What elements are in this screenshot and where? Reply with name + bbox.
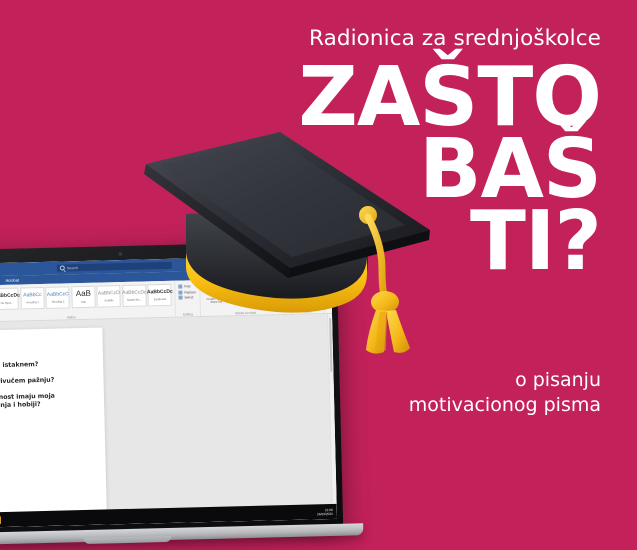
style-emphasis[interactable]: AaBbCcDc Emphasis [148,284,173,307]
document-paragraph-1: Kako da se istaknem? [0,360,94,372]
cap-tassel-shadow [376,312,388,352]
search-icon [60,265,65,270]
style-name-subtle-emphasis: Subtle Em... [127,297,142,301]
kicker-text: Radionica za srednjoškolce [309,26,601,51]
comments-button[interactable]: Comments [298,278,314,282]
laptop-mockup: Document1 - Word Search – □ ✕ M [0,241,344,550]
create-pdf-share-link-label: Create PDF and Share link [203,297,229,304]
dictate-button[interactable]: Dictate [294,281,320,299]
document-body[interactable]: Kako da se istaknem? Kako da privučem pa… [0,354,95,419]
laptop-hinge-notch [83,536,171,544]
sensitivity-buttons[interactable] [327,278,337,294]
acrobat-buttons[interactable]: Create PDF and Share link Create PDF and… [203,280,288,304]
ribbon-group-label-styles: Styles [67,315,76,319]
style-sample-subtitle: AaBbCcD [98,291,120,297]
share-pdf-icon [238,283,251,296]
word-search-placeholder: Search [67,266,78,270]
style-no-spacing[interactable]: AaBbCcDc No Spac... [0,288,19,311]
style-sample-heading-2: AaBbCcC [47,292,69,298]
find-label: Find [184,284,190,288]
create-pdf-share-outlook-label: Create PDF and Share via Outlook [232,297,258,304]
style-sample-subtle-emphasis: AaBbCcDc [122,290,147,296]
style-subtle-emphasis[interactable]: AaBbCcDc Subtle Em... [122,284,147,307]
ribbon-right-actions[interactable]: Comments Share [298,278,328,283]
find-icon [179,285,183,289]
style-sample-heading-1: AaBbCc [23,292,41,297]
style-sample-emphasis: AaBbCcDc [147,289,173,295]
poster-canvas: Document1 - Word Search – □ ✕ M [0,0,637,550]
document-area[interactable]: Kako da se istaknem? Kako da privučem pa… [0,314,337,529]
style-subtitle[interactable]: AaBbCcD Subtitle [97,285,122,308]
folder-icon[interactable] [0,516,1,524]
document-paragraph-2: Kako da privučem pažnju? [0,376,95,388]
ribbon-group-label-acrobat: Adobe Acrobat [235,310,256,315]
clock-date: 24/03/2022 [317,511,333,515]
laptop-lid: Document1 - Word Search – □ ✕ M [0,241,343,536]
ribbon-group-label-voice: Voice [304,309,312,313]
share-button[interactable]: Share [320,278,329,282]
replace-button[interactable]: Replace [179,290,196,294]
ribbon-group-label-editing: Editing [183,312,193,316]
taskbar-clock[interactable]: 21:08 24/03/2022 [317,507,333,515]
webcam-icon [117,251,123,257]
scrollbar-thumb[interactable] [329,318,333,372]
ribbon-group-voice: Dictate Voice [291,277,325,314]
style-name-no-spacing: No Spac... [0,300,13,304]
laptop-screen: Document1 - Word Search – □ ✕ M [0,255,337,529]
ribbon-group-styles: AaBbCcDc Normal AaBbCcDc No Spac... AaBb… [0,281,176,322]
style-name-heading-2: Heading 2 [52,299,65,303]
replace-icon [179,290,183,294]
signature-icon [267,282,280,295]
select-button[interactable]: Select [179,295,196,299]
sensitivity-icon [333,281,337,294]
word-window: Document1 - Word Search – □ ✕ M [0,255,337,529]
vertical-scrollbar[interactable] [327,314,337,511]
style-name-heading-1: Heading 1 [26,300,39,304]
request-signatures-label: Request Signatures [262,296,286,300]
subtitle-line-1: o pisanju [409,368,601,393]
subtitle-line-2: motivacionog pisma [409,393,601,418]
word-search-input[interactable]: Search [57,262,172,272]
find-button[interactable]: Find [179,284,196,288]
styles-gallery[interactable]: AaBbCcDc Normal AaBbCcDc No Spac... AaBb… [0,283,172,311]
document-paragraph-3: Koliku važnost imaju moja interesovanja … [0,392,95,412]
headline: ZAŠTO BAŠ TI? [181,62,601,278]
select-icon [179,296,183,300]
ribbon-group-editing: Find Replace Select [176,280,201,317]
create-pdf-share-outlook-button[interactable]: Create PDF and Share via Outlook [232,283,258,304]
style-name-title: Title [81,300,86,304]
create-pdf-icon [209,284,222,297]
create-pdf-share-link-button[interactable]: Create PDF and Share link [203,283,229,304]
select-label: Select [184,295,193,299]
subtitle: o pisanju motivacionog pisma [409,368,601,417]
style-name-subtitle: Subtitle [104,298,113,302]
ribbon-group-acrobat: Create PDF and Share link Create PDF and… [200,278,292,316]
tab-acrobat[interactable]: Acrobat [5,278,19,283]
replace-label: Replace [184,290,196,294]
style-heading-1[interactable]: AaBbCc Heading 1 [20,287,45,310]
document-page[interactable]: Kako da se istaknem? Kako da privučem pa… [0,328,107,530]
cap-tassel-strand-1 [366,310,386,354]
editing-buttons[interactable]: Find Replace Select [179,282,197,299]
style-name-emphasis: Emphasis [154,296,166,300]
cap-tassel-knot [371,291,399,313]
ribbon-group-label-sensitivity: Sensitivity [333,308,337,312]
request-signatures-button[interactable]: Request Signatures [261,282,287,303]
sensitivity-button[interactable] [327,280,337,294]
dictate-label: Dictate [303,295,311,298]
style-heading-2[interactable]: AaBbCcC Heading 2 [46,286,71,309]
style-title[interactable]: AaB Title [71,286,96,309]
headline-line-3: TI? [181,206,601,278]
style-sample-title: AaB [76,290,91,298]
style-sample-no-spacing: AaBbCcDc [0,293,20,299]
microphone-icon [300,281,313,294]
cap-tassel-strand-2 [386,310,410,353]
